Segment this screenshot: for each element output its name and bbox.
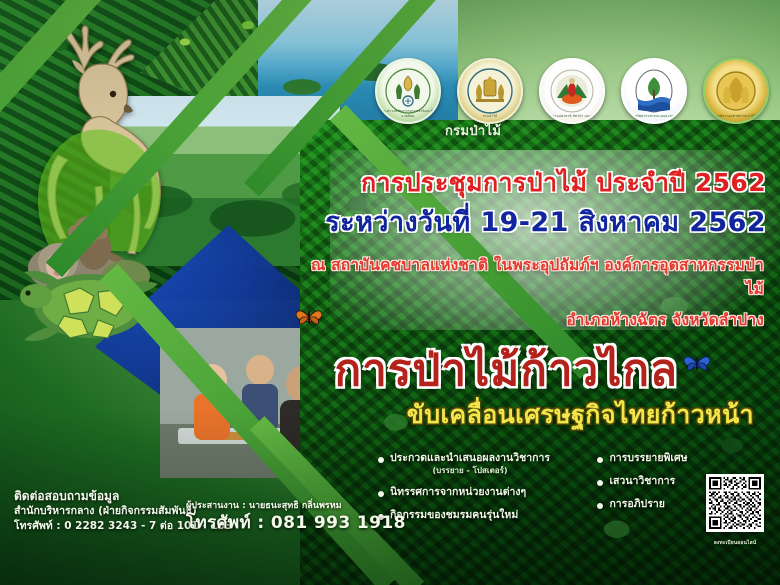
activity-label: นิทรรศการจากหน่วยงานต่างๆ xyxy=(390,486,526,499)
seal-emblem-icon xyxy=(631,68,677,114)
forest-industry-organization-seal: องค์การอุตสาหกรรมป่าไม้ xyxy=(703,58,769,124)
activity-label: กิจกรรมของชมรมคนรุ่นใหม่ xyxy=(390,509,518,522)
royal-forest-department-seal: กรมป่าไม้ xyxy=(457,58,523,124)
coordinator-phone: โทรศัพท์ : 081 993 1918 xyxy=(186,512,406,534)
activity-label: การอภิปราย xyxy=(609,498,664,511)
activities-column-right: การบรรยายพิเศษ เสวนาวิชาการ การอภิปราย xyxy=(597,452,708,522)
bullet-dot-icon xyxy=(378,457,384,463)
list-item: การอภิปราย xyxy=(597,498,708,511)
list-item: เสวนาวิชาการ xyxy=(597,475,708,488)
activity-text: ประกวดและนำเสนอผลงานวิชาการ xyxy=(390,452,550,464)
conference-poster: กระทรวงทรัพยากรธรรมชาติและสิ่งแวดล้อม กร… xyxy=(0,0,780,585)
conference-date: ระหว่างวันที่ 19-21 สิงหาคม 2562 xyxy=(300,207,770,239)
activities-column-left: ประกวดและนำเสนอผลงานวิชาการ (บรรยาย - โป… xyxy=(378,452,575,522)
seal-label: กรมทรัพยากรทางทะเลและชายฝั่ง xyxy=(623,114,685,119)
organization-logos-row: กระทรวงทรัพยากรธรรมชาติและสิ่งแวดล้อม กร… xyxy=(375,58,769,124)
seal-emblem-icon xyxy=(713,68,759,114)
bullet-dot-icon xyxy=(597,503,603,509)
seal-emblem-icon xyxy=(467,68,513,114)
headline-block: การประชุมการป่าไม้ ประจำปี 2562 ระหว่างว… xyxy=(300,168,770,332)
seal-label: กรมอุทยานแห่งชาติ สัตว์ป่า และพันธุ์พืช xyxy=(541,114,603,119)
seal-label: กรมป่าไม้ xyxy=(459,114,521,119)
slogan-sub: ขับเคลื่อนเศรษฐกิจไทยก้าวหน้า xyxy=(250,401,770,429)
activity-label: ประกวดและนำเสนอผลงานวิชาการ (บรรยาย - โป… xyxy=(390,452,550,476)
ministry-of-natural-resources-seal: กระทรวงทรัพยากรธรรมชาติและสิ่งแวดล้อม xyxy=(375,58,441,124)
activity-note: (บรรยาย - โปสเตอร์) xyxy=(390,466,550,476)
conference-district: อำเภอห้างฉัตร จังหวัดลำปาง xyxy=(300,310,770,332)
department-caption: กรมป่าไม้ xyxy=(445,120,501,141)
seal-label: กระทรวงทรัพยากรธรรมชาติและสิ่งแวดล้อม xyxy=(377,109,439,119)
bullet-dot-icon xyxy=(597,457,603,463)
qr-code-block[interactable]: ลงทะเบียนออนไลน์ xyxy=(706,474,764,547)
conference-title: การประชุมการป่าไม้ ประจำปี 2562 xyxy=(300,168,770,198)
slogan-block: การป่าไม้ก้าวไกล ขับเคลื่อนเศรษฐกิจไทยก้… xyxy=(250,348,770,429)
activities-list: ประกวดและนำเสนอผลงานวิชาการ (บรรยาย - โป… xyxy=(378,452,708,522)
coordinator-name: ผู้ประสานงาน : นายธนะสุทธิ กลิ่นพรหม xyxy=(186,500,406,512)
seal-label: องค์การอุตสาหกรรมป่าไม้ xyxy=(705,114,767,119)
seal-emblem-icon xyxy=(549,68,595,114)
national-park-department-seal: กรมอุทยานแห่งชาติ สัตว์ป่า และพันธุ์พืช xyxy=(539,58,605,124)
activity-label: เสวนาวิชาการ xyxy=(609,475,675,488)
qr-code-icon[interactable] xyxy=(706,474,764,532)
contact-info-coordinator: ผู้ประสานงาน : นายธนะสุทธิ กลิ่นพรหม โทร… xyxy=(186,500,406,534)
qr-caption: ลงทะเบียนออนไลน์ xyxy=(706,539,764,547)
marine-coastal-resources-seal: กรมทรัพยากรทางทะเลและชายฝั่ง xyxy=(621,58,687,124)
conference-venue: ณ สถาบันคชบาลแห่งชาติ ในพระอุปถัมภ์ฯ องค… xyxy=(300,254,770,301)
list-item: นิทรรศการจากหน่วยงานต่างๆ xyxy=(378,486,575,499)
list-item: การบรรยายพิเศษ xyxy=(597,452,708,465)
list-item: กิจกรรมของชมรมคนรุ่นใหม่ xyxy=(378,509,575,522)
slogan-main: การป่าไม้ก้าวไกล xyxy=(250,348,770,394)
bullet-dot-icon xyxy=(597,480,603,486)
list-item: ประกวดและนำเสนอผลงานวิชาการ (บรรยาย - โป… xyxy=(378,452,575,476)
seal-emblem-icon xyxy=(385,68,431,114)
bullet-dot-icon xyxy=(378,491,384,497)
activity-label: การบรรยายพิเศษ xyxy=(609,452,687,465)
